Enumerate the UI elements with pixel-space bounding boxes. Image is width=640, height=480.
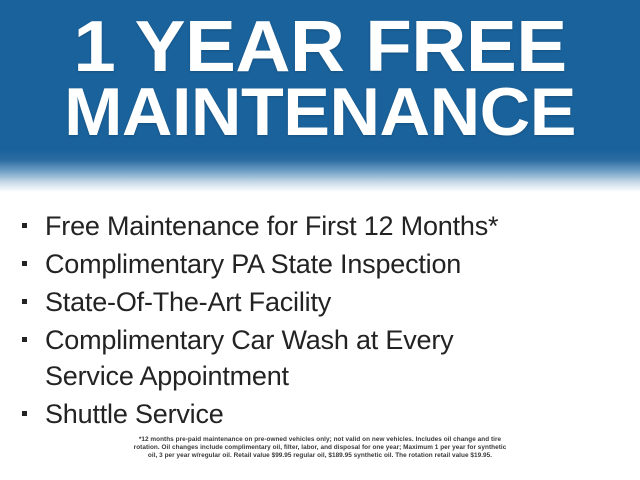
headline-primary: 1 YEAR FREE	[0, 12, 640, 83]
square-bullet-icon	[22, 299, 27, 304]
benefit-label: State-Of-The-Art Facility	[45, 284, 331, 320]
disclaimer-line-1: *12 months pre-paid maintenance on pre-o…	[50, 436, 590, 444]
service-offer-ad: 1 YEAR FREE MAINTENANCE Free Maintenance…	[0, 0, 640, 480]
headline-banner: 1 YEAR FREE MAINTENANCE	[0, 0, 640, 192]
square-bullet-icon	[22, 337, 27, 342]
benefit-label: Free Maintenance for First 12 Months*	[45, 208, 498, 244]
square-bullet-icon	[22, 223, 27, 228]
list-item: Shuttle Service	[22, 396, 622, 432]
disclaimer-line-2: rotation. Oil changes include compliment…	[50, 444, 590, 452]
list-item: State-Of-The-Art Facility	[22, 284, 622, 320]
list-item: Complimentary PA State Inspection	[22, 246, 622, 282]
disclaimer-fine-print: *12 months pre-paid maintenance on pre-o…	[50, 436, 590, 461]
disclaimer-line-3: oil, 3 per year w/regular oil. Retail va…	[50, 452, 590, 460]
headline-banner-inner: 1 YEAR FREE MAINTENANCE	[0, 12, 640, 145]
benefits-list: Free Maintenance for First 12 Months* Co…	[22, 208, 622, 434]
benefit-label: Shuttle Service	[45, 396, 224, 432]
square-bullet-icon	[22, 261, 27, 266]
benefit-label: Complimentary Car Wash at Every Service …	[45, 322, 453, 394]
list-item: Free Maintenance for First 12 Months*	[22, 208, 622, 244]
headline-secondary: MAINTENANCE	[0, 79, 640, 146]
square-bullet-icon	[22, 411, 27, 416]
list-item: Complimentary Car Wash at Every Service …	[22, 322, 622, 394]
benefit-label: Complimentary PA State Inspection	[45, 246, 461, 282]
